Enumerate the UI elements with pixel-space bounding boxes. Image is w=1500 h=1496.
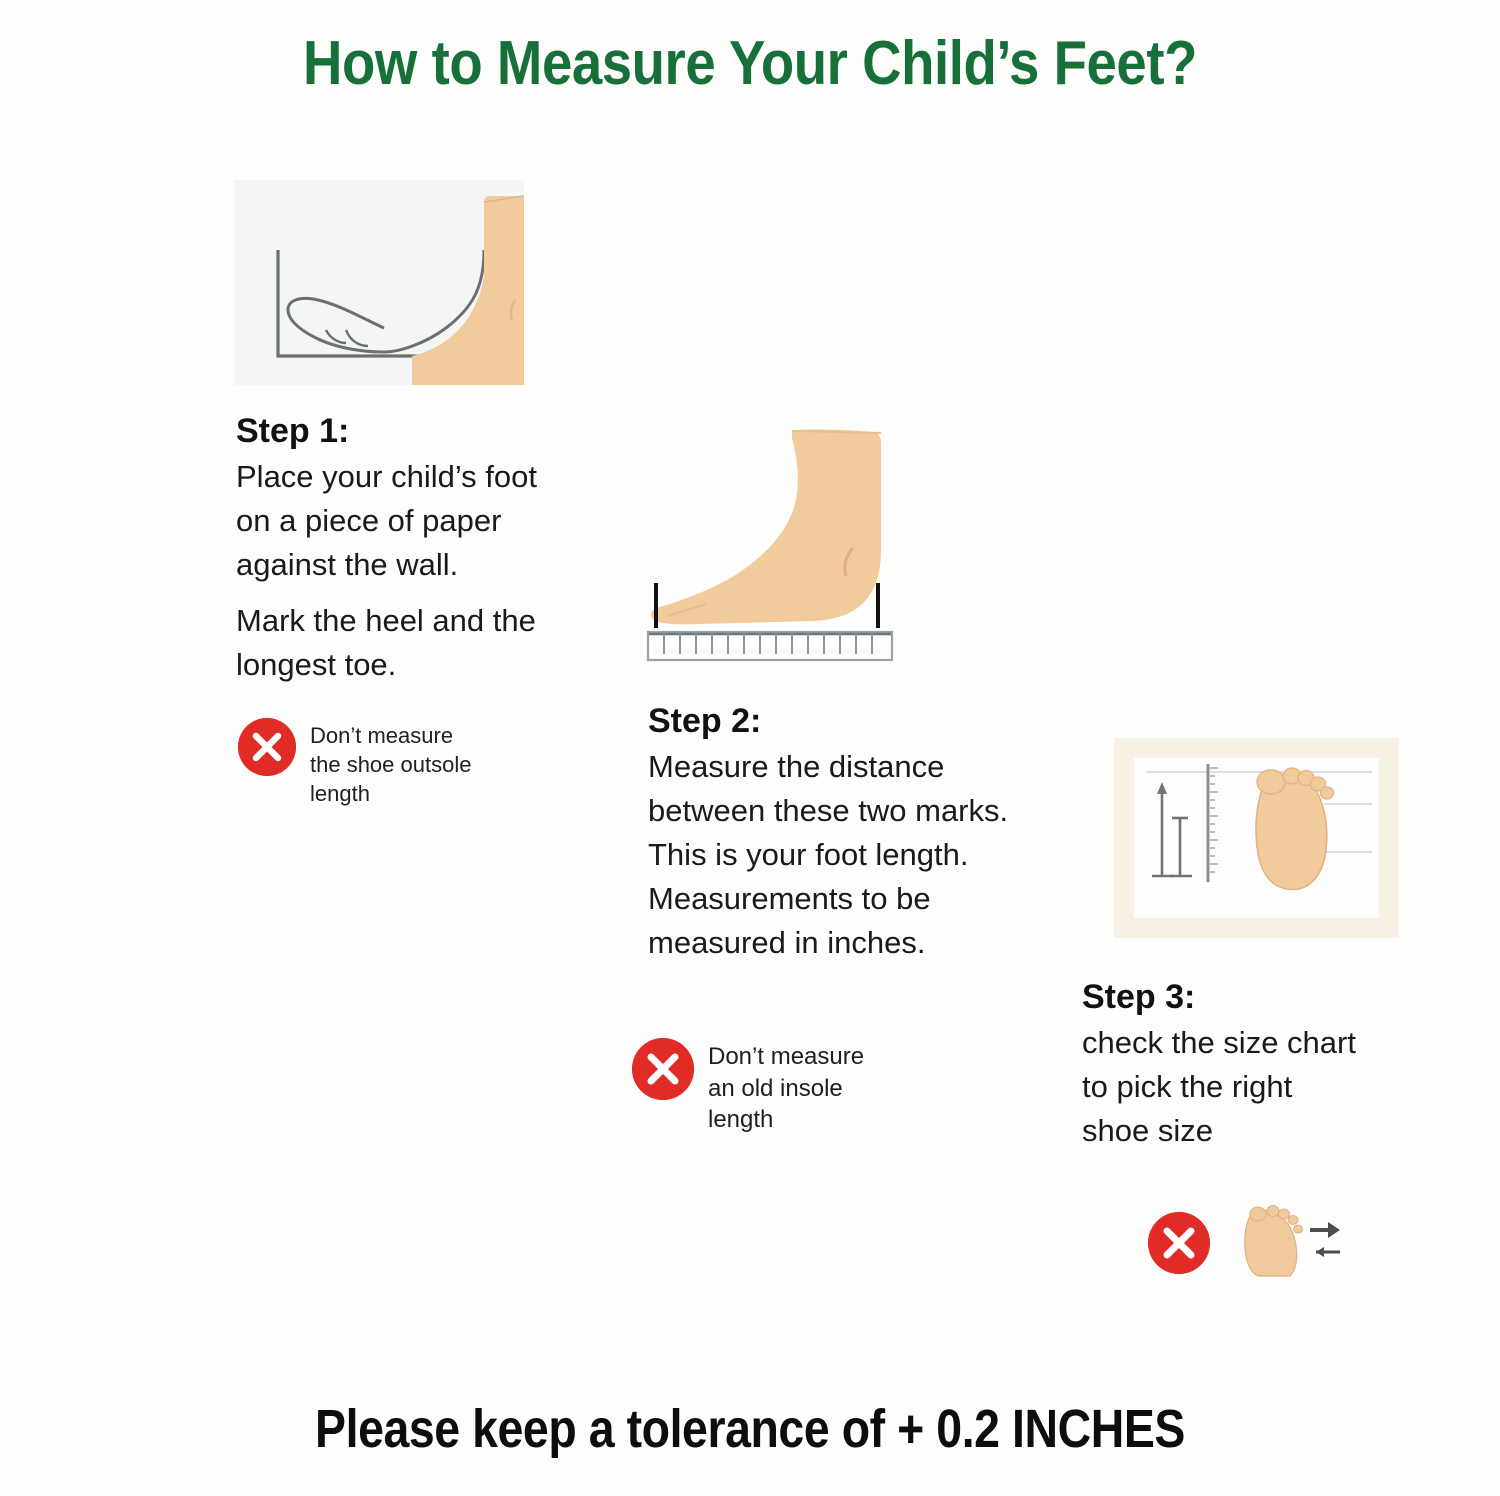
step-1-line-1: Place your child’s foot [236,455,566,499]
step-3-line-1: check the size chart [1082,1021,1422,1065]
step-2-line-4: Measurements to be [648,877,1088,921]
step-1-warning-line-3: length [310,779,471,808]
step-3-illustration-inner [1134,758,1379,918]
step-3-body: check the size chart to pick the right s… [1082,1021,1422,1153]
step-1-line-5: longest toe. [236,643,566,687]
step-2-warning-line-3: length [708,1104,864,1136]
foot-with-ruler-icon [640,420,940,670]
step-2-heading: Step 2: [648,702,1088,741]
step-1-illustration [234,180,524,385]
step-3-line-3: shoe size [1082,1109,1422,1153]
step-1-warning: Don’t measure the shoe outsole length [238,718,538,808]
step-2-warning: Don’t measure an old insole length [632,1038,942,1136]
page-title: How to Measure Your Child’s Feet? [90,28,1410,99]
step-1-body: Place your child’s foot on a piece of pa… [236,455,566,687]
foot-against-wall-icon [234,180,524,385]
step-2-block: Step 2: Measure the distance between the… [648,702,1088,965]
step-1-warning-line-1: Don’t measure [310,721,471,750]
step-1-line-2: on a piece of paper [236,499,566,543]
step-1-warning-line-2: the shoe outsole [310,750,471,779]
tolerance-note: Please keep a tolerance of + 0.2 INCHES [105,1398,1395,1460]
step-2-illustration [640,420,940,670]
step-2-line-3: This is your foot length. [648,833,1088,877]
step-1-line-4: Mark the heel and the [236,599,566,643]
step-1-heading: Step 1: [236,412,566,451]
step-2-warning-line-1: Don’t measure [708,1041,864,1073]
error-x-icon [632,1038,694,1100]
step-2-line-5: measured in inches. [648,921,1088,965]
infographic-page: How to Measure Your Child’s Feet? Step 1… [0,0,1500,1496]
error-x-icon [238,718,296,776]
step-2-body: Measure the distance between these two m… [648,745,1088,965]
step-1-line-3: against the wall. [236,543,566,587]
step-3-heading: Step 3: [1082,978,1422,1017]
step-3-warning [1148,1200,1378,1285]
step-2-warning-text: Don’t measure an old insole length [708,1038,864,1136]
step-3-block: Step 3: check the size chart to pick the… [1082,978,1422,1153]
step-2-line-2: between these two marks. [648,789,1088,833]
foot-width-arrows-icon [1236,1200,1346,1285]
error-x-icon [1148,1212,1210,1274]
step-1-warning-text: Don’t measure the shoe outsole length [310,718,471,808]
step-2-line-1: Measure the distance [648,745,1088,789]
step-3-line-2: to pick the right [1082,1065,1422,1109]
step-3-illustration [1114,738,1399,938]
step-1-block: Step 1: Place your child’s foot on a pie… [236,412,566,687]
step-2-warning-line-2: an old insole [708,1073,864,1105]
foot-sole-scale-icon [1134,758,1379,918]
